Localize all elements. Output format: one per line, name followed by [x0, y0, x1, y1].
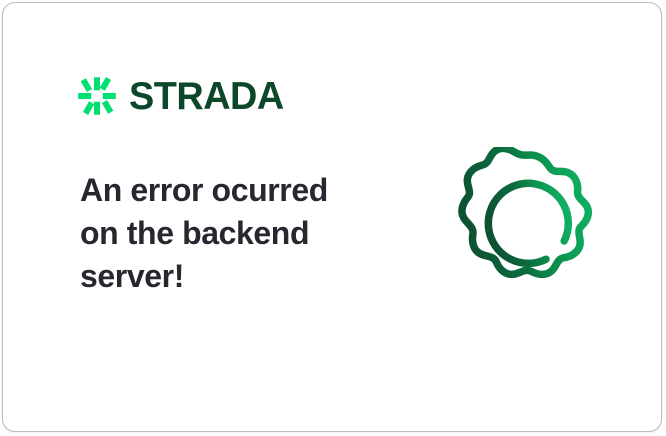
brand-lockup: STRADA: [77, 72, 289, 120]
gear-cog-icon: [452, 147, 608, 303]
strada-asterisk-icon: [77, 76, 117, 116]
gear-inner-arc: [488, 183, 568, 263]
brand-wordmark: STRADA: [129, 77, 284, 116]
error-message-text: An error ocurred on the backend server!: [80, 169, 380, 298]
error-card: STRADA An error ocurred on the backend s…: [2, 2, 662, 432]
